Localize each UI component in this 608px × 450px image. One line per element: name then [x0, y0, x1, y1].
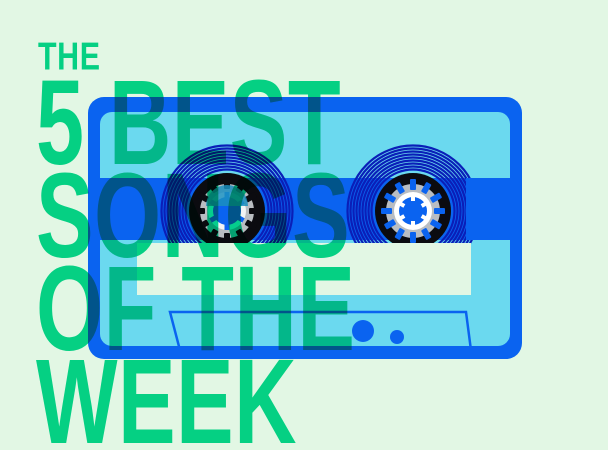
headline-line-week: WEEK — [36, 341, 297, 450]
headline-block: THE 5 BEST SONGS OF THE WEEK — [0, 0, 608, 450]
poster-canvas: THE 5 BEST SONGS OF THE WEEK — [0, 0, 608, 450]
